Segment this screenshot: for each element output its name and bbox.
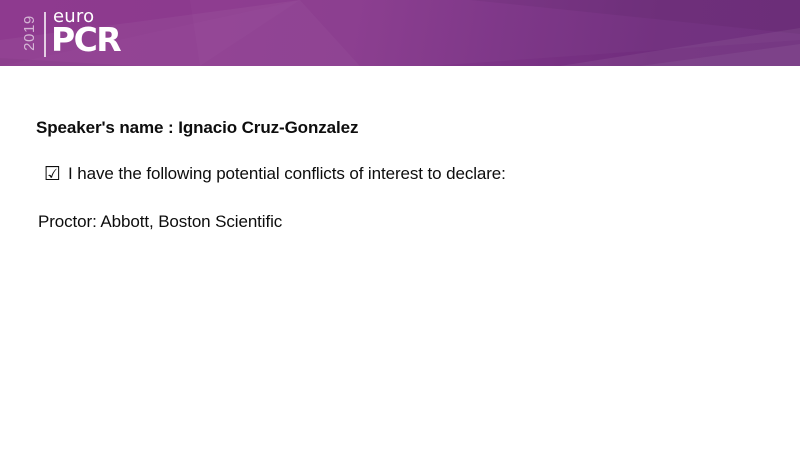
conflicts-declaration-label: I have the following potential conflicts… <box>68 164 506 184</box>
europcr-logo: 2019 euro PCR <box>14 8 134 60</box>
logo-year-2019: 2019 <box>22 8 38 58</box>
logo-pcr-text: PCR <box>51 22 120 57</box>
slide-body: Speaker's name : Ignacio Cruz-Gonzalez ☑… <box>0 66 800 450</box>
speaker-name-line: Speaker's name : Ignacio Cruz-Gonzalez <box>36 118 358 138</box>
checked-checkbox-icon[interactable]: ☑ <box>44 164 61 184</box>
slide-header-band: 2019 euro PCR <box>0 0 800 66</box>
disclosure-details-line: Proctor: Abbott, Boston Scientific <box>38 212 282 232</box>
conflicts-declaration-row: ☑ I have the following potential conflic… <box>44 164 506 184</box>
logo-divider <box>44 12 46 57</box>
